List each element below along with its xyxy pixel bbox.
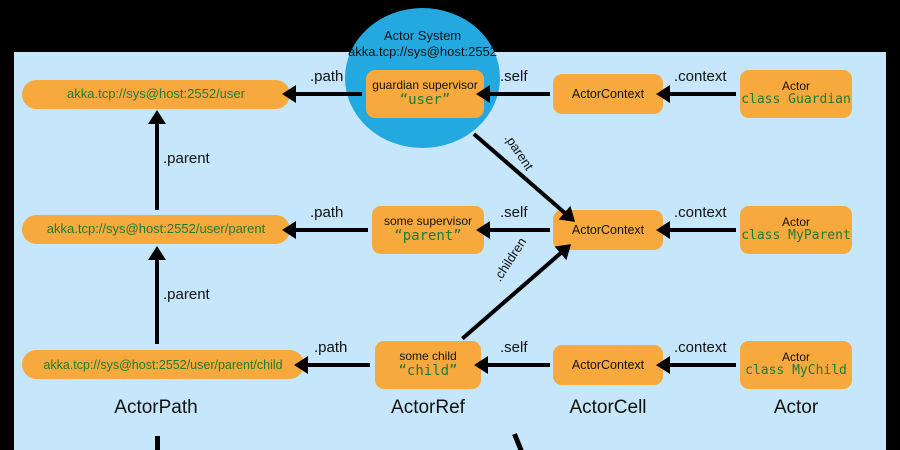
label-self-parent: .self <box>500 204 528 221</box>
arrowhead-icon <box>282 85 296 103</box>
arrow-stub-actorpath <box>155 436 160 450</box>
actorpath-user[interactable]: akka.tcp://sys@host:2552/user <box>22 80 290 109</box>
actorcell-child[interactable]: ActorContext <box>553 345 663 385</box>
actorref-user[interactable]: guardian supervisor “user” <box>366 70 484 118</box>
actorref-user-name: “user” <box>400 93 451 109</box>
actor-myparent-class: class MyParent <box>741 229 851 244</box>
label-path-child: .path <box>314 339 347 356</box>
actorref-parent[interactable]: some supervisor “parent” <box>372 206 484 254</box>
label-context-guardian: .context <box>674 68 727 85</box>
actor-guardian-title: Actor <box>782 80 810 93</box>
actorcell-child-text: ActorContext <box>572 358 644 372</box>
actor-myparent[interactable]: Actor class MyParent <box>740 206 852 254</box>
label-self-child: .self <box>500 339 528 356</box>
arrowhead-icon <box>476 221 490 239</box>
actorref-parent-name: “parent” <box>394 229 461 245</box>
actor-guardian-class: class Guardian <box>741 93 851 108</box>
arrow-context-guardian <box>668 92 736 96</box>
arrowhead-icon <box>282 221 296 239</box>
column-header-actorpath: ActorPath <box>56 397 256 419</box>
actorref-child-name: “child” <box>398 364 457 380</box>
actor-mychild-title: Actor <box>782 351 810 364</box>
arrow-parent-path-parent <box>155 258 159 344</box>
arrowhead-icon <box>656 356 670 374</box>
arrow-self-child <box>486 363 550 367</box>
actorref-child[interactable]: some child “child” <box>375 341 481 389</box>
arrow-self-user <box>488 92 550 96</box>
label-self-user: .self <box>500 68 528 85</box>
column-header-actorcell: ActorCell <box>508 397 708 419</box>
actor-mychild[interactable]: Actor class MyChild <box>740 341 852 389</box>
label-context-myparent: .context <box>674 204 727 221</box>
arrow-path-user <box>294 92 362 96</box>
actorpath-parent[interactable]: akka.tcp://sys@host:2552/user/parent <box>22 215 290 244</box>
actor-mychild-class: class MyChild <box>745 364 847 379</box>
actorcell-parent-text: ActorContext <box>572 223 644 237</box>
column-header-actorref: ActorRef <box>328 397 528 419</box>
arrowhead-icon <box>656 221 670 239</box>
actorcell-user[interactable]: ActorContext <box>553 74 663 114</box>
arrow-context-mychild <box>668 363 736 367</box>
arrowhead-icon <box>148 110 166 124</box>
arrowhead-icon <box>474 356 488 374</box>
arrow-parent-path-user <box>155 122 159 210</box>
arrow-path-parent <box>294 228 368 232</box>
arrowhead-icon <box>476 85 490 103</box>
arrowhead-icon <box>294 356 308 374</box>
column-header-actor: Actor <box>696 397 896 419</box>
actorpath-user-text: akka.tcp://sys@host:2552/user <box>67 87 245 102</box>
label-parent-path-user: .parent <box>163 150 210 167</box>
arrowhead-icon <box>148 246 166 260</box>
arrow-path-child <box>306 363 370 367</box>
arrow-self-parent <box>488 228 550 232</box>
actorcell-user-text: ActorContext <box>572 87 644 101</box>
actorref-parent-title: some supervisor <box>384 215 472 228</box>
arrow-context-myparent <box>668 228 736 232</box>
actorpath-child[interactable]: akka.tcp://sys@host:2552/user/parent/chi… <box>22 350 304 379</box>
actorref-user-title: guardian supervisor <box>372 79 477 92</box>
label-path-user: .path <box>310 68 343 85</box>
actorpath-child-text: akka.tcp://sys@host:2552/user/parent/chi… <box>43 358 282 372</box>
label-context-mychild: .context <box>674 339 727 356</box>
actorref-child-title: some child <box>399 350 456 363</box>
actor-guardian[interactable]: Actor class Guardian <box>740 70 852 118</box>
label-parent-path-parent: .parent <box>163 286 210 303</box>
actorpath-parent-text: akka.tcp://sys@host:2552/user/parent <box>47 222 265 237</box>
actor-myparent-title: Actor <box>782 216 810 229</box>
label-path-parent: .path <box>310 204 343 221</box>
diagram-canvas: Actor System akka.tcp://sys@host:2552 ak… <box>0 0 900 450</box>
arrowhead-icon <box>656 85 670 103</box>
